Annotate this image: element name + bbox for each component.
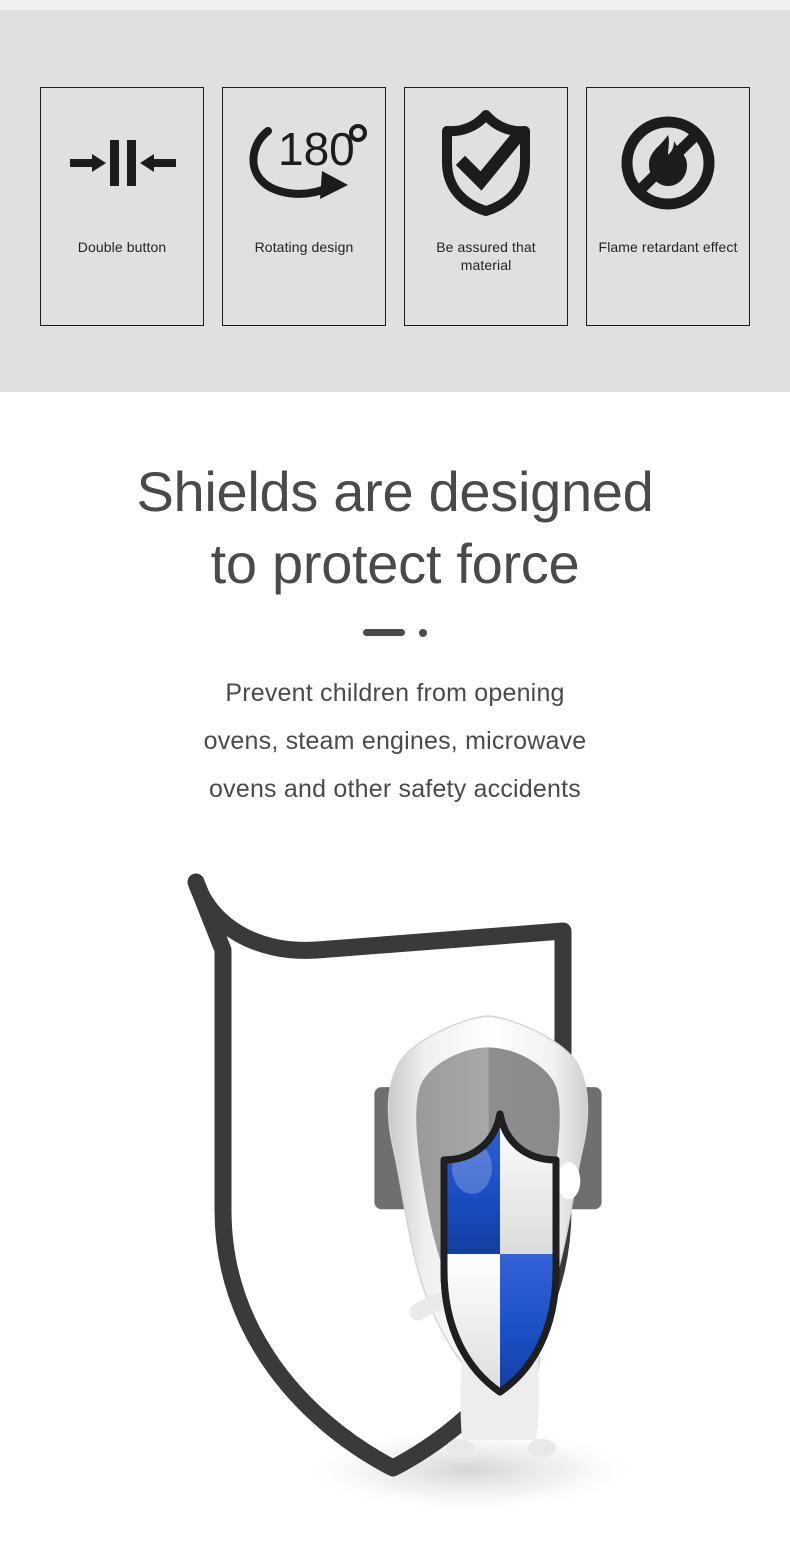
- feature-card-label: Be assured that material: [405, 238, 567, 275]
- description-line-3: ovens and other safety accidents: [0, 765, 790, 813]
- divider-dash: [363, 629, 405, 636]
- hero-text-block: Shields are designed to protect force Pr…: [0, 392, 790, 813]
- mascot-leg-left: [446, 1439, 474, 1457]
- double-button-icon: [41, 88, 203, 238]
- rotating-180-degree-icon: 180: [223, 88, 385, 238]
- feature-card-double-button[interactable]: Double button: [40, 87, 204, 326]
- headline-line-2: to protect force: [0, 528, 790, 600]
- hero-description: Prevent children from opening ovens, ste…: [0, 639, 790, 813]
- headline-line-1: Shields are designed: [0, 456, 790, 528]
- no-flame-icon: [587, 88, 749, 238]
- feature-card-rotating-design[interactable]: 180 Rotating design: [222, 87, 386, 326]
- description-line-2: ovens, steam engines, microwave: [0, 717, 790, 765]
- hero-illustration: [0, 860, 790, 1520]
- shield-check-icon: [405, 88, 567, 238]
- feature-card-list: Double button 180 Rotating design: [40, 87, 750, 326]
- description-line-1: Prevent children from opening: [0, 669, 790, 717]
- feature-card-label: Rotating design: [249, 238, 360, 256]
- page-title: Shields are designed to protect force: [0, 392, 790, 599]
- device-notch: [558, 1162, 581, 1199]
- divider-dot: [419, 629, 427, 637]
- feature-card-label: Double button: [72, 238, 172, 256]
- svg-text:180: 180: [278, 123, 355, 175]
- dash-dot-divider: [363, 625, 427, 639]
- feature-card-flame-retardant[interactable]: Flame retardant effect: [586, 87, 750, 326]
- feature-band: Double button 180 Rotating design: [0, 10, 790, 392]
- mascot-leg-right: [528, 1439, 556, 1457]
- feature-card-label: Flame retardant effect: [593, 238, 744, 256]
- feature-card-assured-material[interactable]: Be assured that material: [404, 87, 568, 326]
- top-strip: [0, 0, 790, 10]
